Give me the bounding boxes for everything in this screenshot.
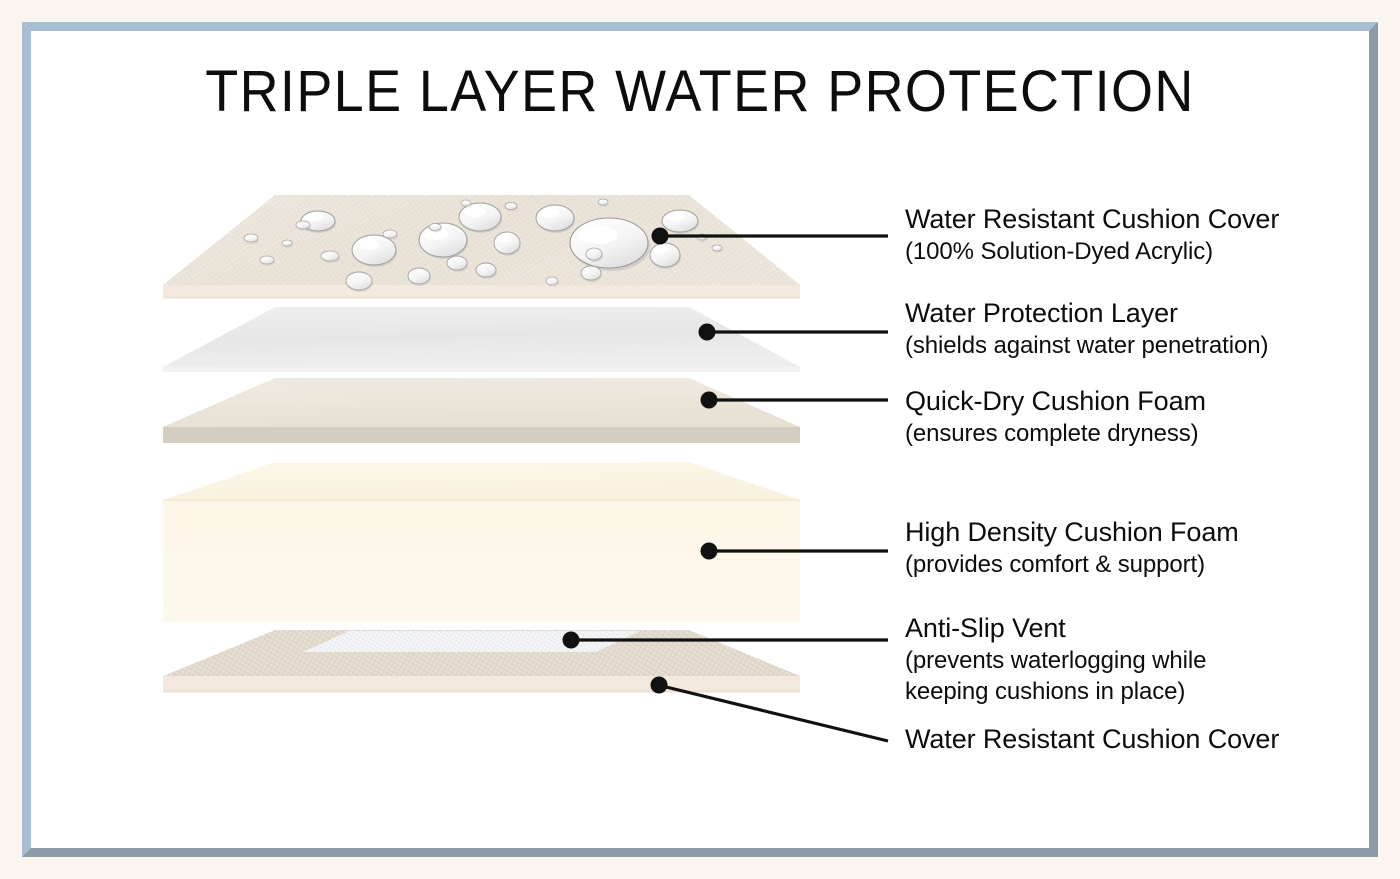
callout-subtitle-line1: (prevents waterlogging while [905, 645, 1206, 676]
callout-subtitle-line2: keeping cushions in place) [905, 676, 1206, 707]
callout-anti-slip-vent: Anti-Slip Vent (prevents waterlogging wh… [905, 612, 1206, 707]
callout-water-resistant-cushion-cover: Water Resistant Cushion Cover (100% Solu… [905, 203, 1279, 267]
callout-subtitle: (100% Solution-Dyed Acrylic) [905, 236, 1279, 267]
callout-high-density-cushion-foam: High Density Cushion Foam (provides comf… [905, 516, 1239, 580]
callout-water-resistant-cushion-cover-bottom: Water Resistant Cushion Cover [905, 723, 1279, 756]
callout-subtitle: (provides comfort & support) [905, 549, 1239, 580]
callout-title: High Density Cushion Foam [905, 516, 1239, 549]
callout-water-protection-layer: Water Protection Layer (shields against … [905, 297, 1268, 361]
callout-title: Water Resistant Cushion Cover [905, 723, 1279, 756]
callout-title: Water Protection Layer [905, 297, 1268, 330]
callout-title: Quick-Dry Cushion Foam [905, 385, 1206, 418]
callout-labels: Water Resistant Cushion Cover (100% Solu… [0, 0, 1400, 879]
callout-quick-dry-cushion-foam: Quick-Dry Cushion Foam (ensures complete… [905, 385, 1206, 449]
callout-title: Water Resistant Cushion Cover [905, 203, 1279, 236]
callout-title: Anti-Slip Vent [905, 612, 1206, 645]
infographic-stage: TRIPLE LAYER WATER PROTECTION [0, 0, 1400, 879]
callout-subtitle: (ensures complete dryness) [905, 418, 1206, 449]
callout-subtitle: (shields against water penetration) [905, 330, 1268, 361]
